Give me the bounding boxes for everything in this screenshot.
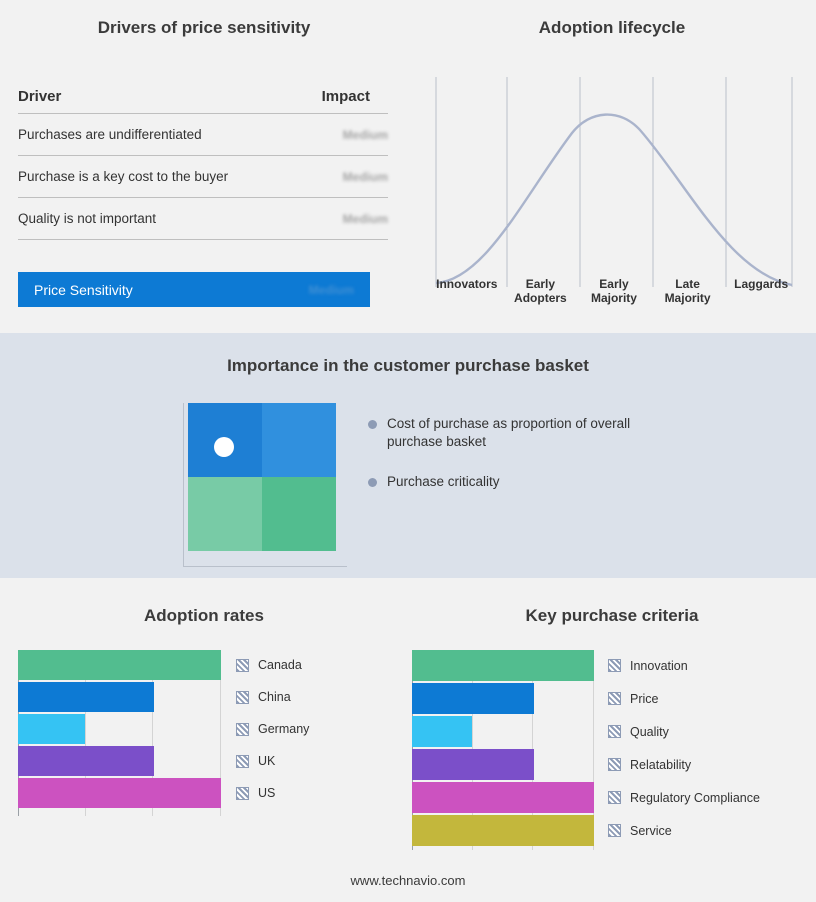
legend-bullet-icon (368, 478, 377, 487)
hatch-swatch-icon (608, 791, 621, 804)
bar-row (412, 650, 594, 681)
criteria-title: Key purchase criteria (408, 606, 816, 626)
legend-label: Price (630, 692, 658, 706)
lifecycle-curve-svg (430, 75, 798, 289)
bar-us (18, 778, 221, 808)
price-sensitivity-summary: Price Sensitivity Medium (18, 272, 370, 307)
bar-row (412, 683, 594, 714)
position-marker-dot (214, 437, 234, 457)
bar-quality (412, 716, 472, 747)
bar-uk (18, 746, 154, 776)
impact-value: Medium (343, 212, 388, 226)
bar-row (412, 716, 594, 747)
adoption-bars (18, 650, 221, 816)
list-item: Cost of purchase as proportion of overal… (368, 415, 658, 451)
drivers-title: Drivers of price sensitivity (0, 18, 408, 38)
hatch-swatch-icon (608, 758, 621, 771)
legend-item-service: Service (608, 815, 808, 846)
driver-label: Purchase is a key cost to the buyer (18, 169, 228, 184)
summary-impact: Medium (309, 283, 354, 297)
hatch-swatch-icon (608, 824, 621, 837)
adoption-legend: CanadaChinaGermanyUKUS (236, 650, 396, 816)
table-row: Purchase is a key cost to the buyer Medi… (18, 156, 388, 198)
hatch-swatch-icon (236, 691, 249, 704)
lifecycle-stage-labels: Innovators Early Adopters Early Majority… (430, 277, 798, 305)
legend-label: Purchase criticality (387, 473, 500, 491)
lifecycle-stage-laggards: Laggards (724, 277, 798, 305)
hatch-swatch-icon (236, 787, 249, 800)
legend-item-quality: Quality (608, 716, 808, 747)
table-row: Purchases are undifferentiated Medium (18, 114, 388, 156)
hatch-swatch-icon (236, 659, 249, 672)
impact-value: Medium (343, 170, 388, 184)
legend-label: UK (258, 754, 275, 768)
hatch-swatch-icon (236, 723, 249, 736)
bar-row (412, 815, 594, 846)
legend-label: Relatability (630, 758, 691, 772)
legend-label: Quality (630, 725, 669, 739)
legend-item-germany: Germany (236, 714, 396, 744)
lifecycle-stage-innovators: Innovators (430, 277, 504, 305)
basket-legend: Cost of purchase as proportion of overal… (368, 415, 658, 513)
legend-item-us: US (236, 778, 396, 808)
summary-label: Price Sensitivity (34, 282, 133, 298)
table-row: Quality is not important Medium (18, 198, 388, 240)
lifecycle-stage-early-adopters: Early Adopters (504, 277, 578, 305)
legend-label: Canada (258, 658, 302, 672)
legend-label: Germany (258, 722, 309, 736)
hatch-swatch-icon (608, 725, 621, 738)
impact-value: Medium (343, 128, 388, 142)
criteria-bars (412, 650, 594, 850)
legend-item-regulatory-compliance: Regulatory Compliance (608, 782, 808, 813)
legend-label: China (258, 690, 291, 704)
bar-row (412, 782, 594, 813)
column-header-impact: Impact (322, 88, 388, 105)
bar-innovation (412, 650, 594, 681)
basket-title: Importance in the customer purchase bask… (0, 356, 816, 376)
panel-key-criteria: Key purchase criteria InnovationPriceQua… (408, 578, 816, 902)
adoption-title: Adoption rates (0, 606, 408, 626)
legend-item-canada: Canada (236, 650, 396, 680)
legend-label: Innovation (630, 659, 688, 673)
criteria-legend: InnovationPriceQualityRelatabilityRegula… (608, 650, 808, 850)
driver-label: Quality is not important (18, 211, 156, 226)
lifecycle-chart: Innovators Early Adopters Early Majority… (430, 75, 798, 305)
hatch-swatch-icon (236, 755, 249, 768)
legend-label: Cost of purchase as proportion of overal… (387, 415, 658, 451)
legend-item-price: Price (608, 683, 808, 714)
quadrant-top-right (262, 403, 336, 477)
legend-item-uk: UK (236, 746, 396, 776)
column-header-driver: Driver (18, 88, 61, 105)
panel-lifecycle: Adoption lifecycle Innovators Early Adop… (408, 0, 816, 333)
quadrant-bottom-right (262, 477, 336, 551)
legend-bullet-icon (368, 420, 377, 429)
panel-adoption-rates: Adoption rates CanadaChinaGermanyUKUS (0, 578, 408, 902)
quadrant-grid (188, 403, 336, 551)
bar-row (18, 746, 221, 776)
legend-item-relatability: Relatability (608, 749, 808, 780)
drivers-table: Driver Impact Purchases are undifferenti… (18, 88, 388, 240)
lifecycle-title: Adoption lifecycle (408, 18, 816, 38)
quadrant-bottom-left (188, 477, 262, 551)
legend-item-innovation: Innovation (608, 650, 808, 681)
bar-regulatory-compliance (412, 782, 594, 813)
basket-quadrant-chart (183, 403, 347, 567)
drivers-table-header: Driver Impact (18, 88, 388, 114)
hatch-swatch-icon (608, 659, 621, 672)
footer-url: www.technavio.com (0, 873, 816, 888)
bar-row (18, 778, 221, 808)
bar-row (18, 682, 221, 712)
list-item: Purchase criticality (368, 473, 658, 491)
legend-label: Service (630, 824, 672, 838)
driver-label: Purchases are undifferentiated (18, 127, 202, 142)
legend-item-china: China (236, 682, 396, 712)
panel-drivers: Drivers of price sensitivity Driver Impa… (0, 0, 408, 333)
bar-canada (18, 650, 221, 680)
lifecycle-stage-late-majority: Late Majority (651, 277, 725, 305)
bar-row (18, 650, 221, 680)
panel-purchase-basket: Importance in the customer purchase bask… (0, 333, 816, 578)
bar-relatability (412, 749, 534, 780)
bar-china (18, 682, 154, 712)
legend-label: Regulatory Compliance (630, 791, 760, 805)
bar-germany (18, 714, 85, 744)
legend-label: US (258, 786, 275, 800)
bar-row (412, 749, 594, 780)
bar-price (412, 683, 534, 714)
bar-service (412, 815, 594, 846)
bar-row (18, 714, 221, 744)
lifecycle-stage-early-majority: Early Majority (577, 277, 651, 305)
hatch-swatch-icon (608, 692, 621, 705)
